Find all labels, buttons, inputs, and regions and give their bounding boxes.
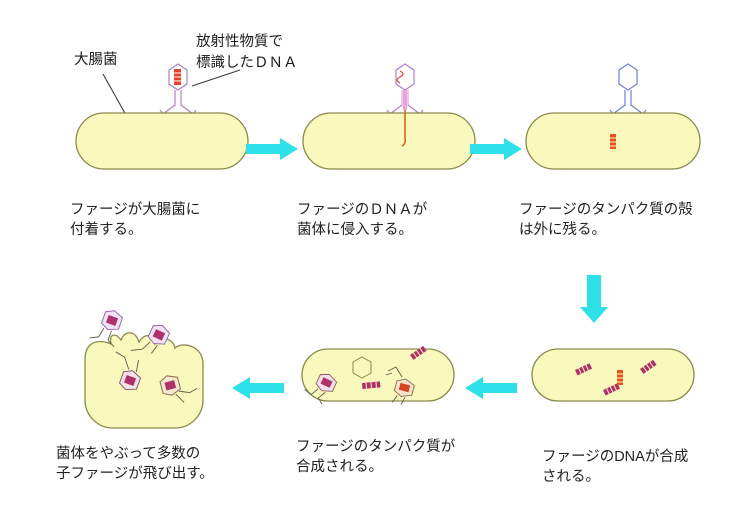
internal-dna-segment <box>617 370 623 385</box>
panel-4-caption: ファージのDNAが合成 される。 <box>542 447 688 487</box>
phage-injecting <box>387 64 423 114</box>
panel-2-cell <box>297 62 482 182</box>
panel-3-caption: ファージのタンパク質の殻 は外に残る。 <box>519 200 693 240</box>
panel-5-cell <box>300 345 475 440</box>
panel-6-cell <box>55 300 245 440</box>
arrow-1-2 <box>246 136 304 162</box>
internal-dna-segment <box>610 134 616 149</box>
panel-3-cell <box>520 62 715 182</box>
arrow-3-4 <box>580 275 612 325</box>
phage-attached-loaded <box>160 64 196 114</box>
panel-6-caption: 菌体をやぶって多数の 子ファージが飛び出す。 <box>56 444 214 484</box>
panel-2-caption: ファージのＤＮＡが 菌体に侵入する。 <box>297 200 427 240</box>
diagram-canvas: 大腸菌 放射性物質で 標識したＤＮＡ ファージが大腸菌に 付着する。 <box>0 0 754 512</box>
phage-empty-shell <box>610 64 646 114</box>
panel-1-cell <box>70 62 255 182</box>
panel-4-cell <box>528 345 718 440</box>
panel-1-caption: ファージが大腸菌に 付着する。 <box>70 200 200 240</box>
panel-5-caption: ファージのタンパク質が 合成される。 <box>296 437 455 477</box>
